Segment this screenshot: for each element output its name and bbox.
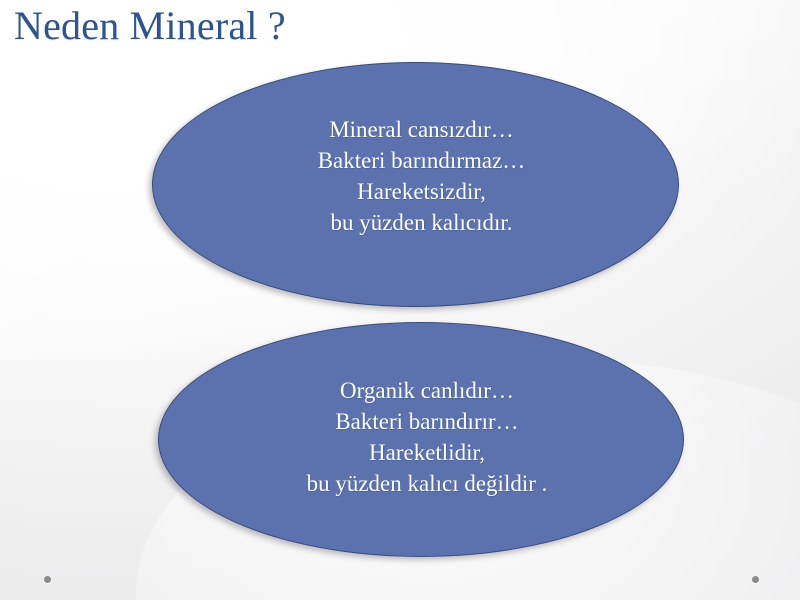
mineral-line-1: Mineral cansızdır… xyxy=(177,114,666,145)
organik-ellipse-text: Organik canlıdır… Bakteri barındırır… Ha… xyxy=(165,375,689,499)
decorative-dot-right-icon xyxy=(752,576,759,583)
mineral-line-3: Hareketsizdir, xyxy=(177,176,666,207)
decorative-dot-left-icon xyxy=(44,576,51,583)
organik-line-2: Bakteri barındırır… xyxy=(183,406,671,437)
page-title: Neden Mineral ? xyxy=(14,3,714,49)
mineral-ellipse[interactable]: Mineral cansızdır… Bakteri barındırmaz… … xyxy=(152,62,679,307)
organik-line-4: bu yüzden kalıcı değildir . xyxy=(183,468,671,499)
organik-line-1: Organik canlıdır… xyxy=(183,375,671,406)
organik-ellipse[interactable]: Organik canlıdır… Bakteri barındırır… Ha… xyxy=(158,322,684,557)
slide-canvas: Neden Mineral ? Mineral cansızdır… Bakte… xyxy=(0,0,800,600)
mineral-line-2: Bakteri barındırmaz… xyxy=(177,145,666,176)
organik-line-3: Hareketlidir, xyxy=(183,437,671,468)
mineral-ellipse-text: Mineral cansızdır… Bakteri barındırmaz… … xyxy=(159,114,684,238)
mineral-line-4: bu yüzden kalıcıdır. xyxy=(177,207,666,238)
